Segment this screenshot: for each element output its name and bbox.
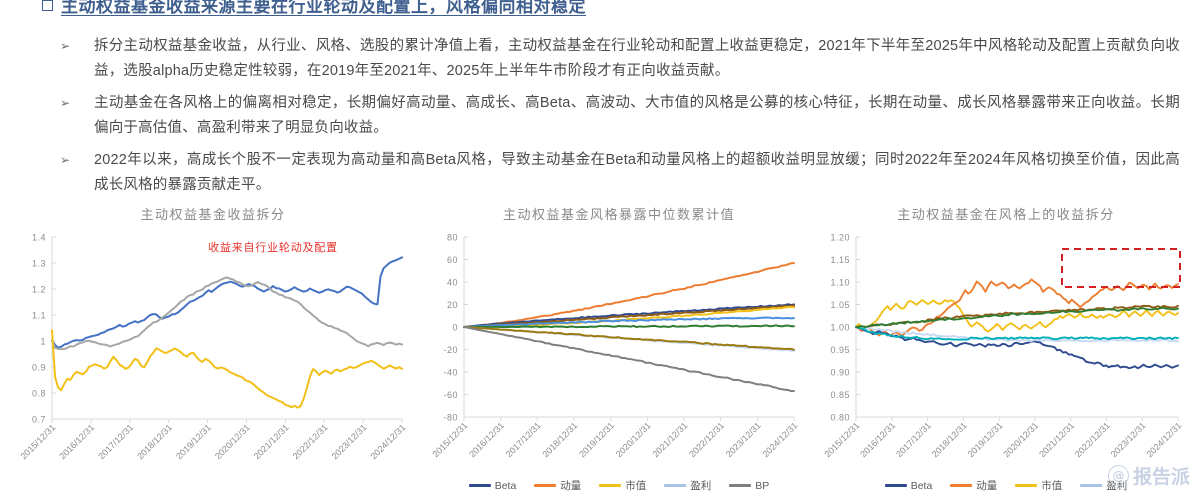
svg-text:1.4: 1.4 bbox=[32, 233, 46, 243]
svg-text:2020/12/31: 2020/12/31 bbox=[614, 420, 653, 459]
svg-text:2022/12/31: 2022/12/31 bbox=[1073, 420, 1112, 459]
svg-text:-20: -20 bbox=[443, 345, 458, 355]
svg-text:2023/12/31: 2023/12/31 bbox=[724, 420, 763, 459]
svg-text:0: 0 bbox=[452, 323, 458, 333]
legend-label: Beta bbox=[495, 480, 517, 492]
svg-text:0.8: 0.8 bbox=[32, 389, 46, 399]
legend-label: Beta bbox=[911, 480, 933, 492]
svg-text:0.90: 0.90 bbox=[830, 368, 850, 378]
legend-swatch-icon bbox=[885, 484, 907, 487]
chart-panel-style-exposure: 主动权益基金风格暴露中位数累计值 806040200-20-40-60-8020… bbox=[424, 203, 814, 495]
svg-text:2019/12/31: 2019/12/31 bbox=[966, 420, 1005, 459]
svg-text:1.00: 1.00 bbox=[830, 323, 850, 333]
line-chart-3: 1.201.151.101.051.000.950.900.850.802015… bbox=[816, 229, 1196, 469]
chart-panel-style-return-breakdown: 主动权益基金在风格上的收益拆分 1.201.151.101.051.000.95… bbox=[816, 203, 1196, 495]
page-title: 主动权益基金收益来源主要在行业轮动及配置上，风格偏向相对稳定 bbox=[61, 0, 586, 17]
svg-text:80: 80 bbox=[447, 233, 458, 243]
checkbox-marker-icon bbox=[42, 0, 53, 11]
svg-text:2015/12/31: 2015/12/31 bbox=[430, 420, 469, 459]
bullet-text: 2022年以来，高成长个股不一定表现为高动量和高Beta风格，导致主动基金在Be… bbox=[94, 148, 1180, 198]
svg-text:1.10: 1.10 bbox=[830, 278, 850, 288]
chart-title: 主动权益基金风格暴露中位数累计值 bbox=[424, 203, 814, 229]
svg-text:-60: -60 bbox=[443, 390, 458, 400]
line-chart-1: 1.41.31.21.110.90.80.72015/12/312016/12/… bbox=[8, 229, 418, 495]
svg-text:0.80: 0.80 bbox=[830, 413, 850, 423]
legend-swatch-icon bbox=[1015, 484, 1037, 487]
legend-swatch-icon bbox=[469, 484, 491, 487]
chart-row: 主动权益基金收益拆分 1.41.31.21.110.90.80.72015/12… bbox=[0, 203, 1200, 495]
legend-swatch-icon bbox=[599, 484, 621, 487]
legend-item[interactable]: 动量 bbox=[950, 478, 997, 493]
legend-label: 盈利 bbox=[690, 478, 711, 493]
legend-item[interactable]: BP bbox=[729, 480, 769, 492]
chart-title: 主动权益基金在风格上的收益拆分 bbox=[816, 203, 1196, 229]
svg-text:2021/12/31: 2021/12/31 bbox=[1037, 420, 1076, 459]
svg-text:0.95: 0.95 bbox=[830, 345, 850, 355]
svg-text:2016/12/31: 2016/12/31 bbox=[858, 420, 897, 459]
svg-text:20: 20 bbox=[447, 300, 458, 310]
legend-label: 市值 bbox=[625, 478, 646, 493]
svg-text:2022/12/31: 2022/12/31 bbox=[687, 420, 726, 459]
bullet-text: 拆分主动权益基金收益，从行业、风格、选股的累计净值上看，主动权益基金在行业轮动和… bbox=[94, 34, 1180, 84]
svg-text:2022/12/31: 2022/12/31 bbox=[291, 422, 330, 461]
legend-item[interactable]: 市值 bbox=[1015, 478, 1062, 493]
slide-title: 主动权益基金收益来源主要在行业轮动及配置上，风格偏向相对稳定 bbox=[42, 0, 1172, 18]
svg-text:2016/12/31: 2016/12/31 bbox=[467, 420, 506, 459]
svg-text:0.9: 0.9 bbox=[32, 363, 46, 373]
svg-text:40: 40 bbox=[447, 278, 458, 288]
svg-text:1.3: 1.3 bbox=[32, 259, 46, 269]
svg-text:2017/12/31: 2017/12/31 bbox=[504, 420, 543, 459]
legend-item[interactable]: 盈利 bbox=[664, 478, 711, 493]
legend-label: 动量 bbox=[560, 478, 581, 493]
svg-text:1: 1 bbox=[40, 337, 46, 347]
legend-swatch-icon bbox=[729, 484, 751, 487]
bullet-arrow-icon: ➢ bbox=[60, 34, 94, 59]
list-item: ➢ 2022年以来，高成长个股不一定表现为高动量和高Beta风格，导致主动基金在… bbox=[60, 148, 1180, 198]
svg-text:2015/12/31: 2015/12/31 bbox=[18, 422, 57, 461]
svg-text:2024/12/31: 2024/12/31 bbox=[1144, 420, 1183, 459]
bullet-arrow-icon: ➢ bbox=[60, 91, 94, 116]
legend-swatch-icon bbox=[664, 484, 686, 487]
highlight-box bbox=[1062, 249, 1180, 287]
svg-text:2019/12/31: 2019/12/31 bbox=[174, 422, 213, 461]
legend-swatch-icon bbox=[950, 484, 972, 487]
bullet-text: 主动基金在各风格上的偏离相对稳定，长期偏好高动量、高成长、高Beta、高波动、大… bbox=[94, 91, 1180, 141]
svg-text:0.85: 0.85 bbox=[830, 390, 850, 400]
list-item: ➢ 拆分主动权益基金收益，从行业、风格、选股的累计净值上看，主动权益基金在行业轮… bbox=[60, 34, 1180, 84]
chart-legend-3: Beta动量市值盈利 bbox=[816, 478, 1196, 493]
svg-text:2024/12/31: 2024/12/31 bbox=[760, 420, 799, 459]
legend-swatch-icon bbox=[534, 484, 556, 487]
svg-text:0.7: 0.7 bbox=[32, 415, 46, 425]
list-item: ➢ 主动基金在各风格上的偏离相对稳定，长期偏好高动量、高成长、高Beta、高波动… bbox=[60, 91, 1180, 141]
chart-panel-revenue-breakdown: 主动权益基金收益拆分 1.41.31.21.110.90.80.72015/12… bbox=[8, 203, 418, 495]
svg-text:2020/12/31: 2020/12/31 bbox=[1001, 420, 1040, 459]
svg-text:1.1: 1.1 bbox=[32, 311, 46, 321]
svg-text:2021/12/31: 2021/12/31 bbox=[252, 422, 291, 461]
svg-text:-40: -40 bbox=[443, 368, 458, 378]
svg-text:2021/12/31: 2021/12/31 bbox=[650, 420, 689, 459]
svg-text:2019/12/31: 2019/12/31 bbox=[577, 420, 616, 459]
chart-title: 主动权益基金收益拆分 bbox=[8, 203, 418, 229]
legend-label: 动量 bbox=[976, 478, 997, 493]
svg-text:-80: -80 bbox=[443, 413, 458, 423]
bullet-list: ➢ 拆分主动权益基金收益，从行业、风格、选股的累计净值上看，主动权益基金在行业轮… bbox=[60, 34, 1180, 205]
svg-text:1.05: 1.05 bbox=[830, 300, 850, 310]
svg-text:1.20: 1.20 bbox=[830, 233, 850, 243]
svg-text:2017/12/31: 2017/12/31 bbox=[96, 422, 135, 461]
svg-text:2017/12/31: 2017/12/31 bbox=[894, 420, 933, 459]
legend-item[interactable]: 盈利 bbox=[1080, 478, 1127, 493]
legend-label: BP bbox=[755, 480, 769, 492]
chart-legend-2: Beta动量市值盈利BP bbox=[424, 478, 814, 493]
legend-item[interactable]: Beta bbox=[469, 480, 517, 492]
svg-text:2023/12/31: 2023/12/31 bbox=[1109, 420, 1148, 459]
legend-item[interactable]: 动量 bbox=[534, 478, 581, 493]
svg-text:2020/12/31: 2020/12/31 bbox=[213, 422, 252, 461]
legend-item[interactable]: 市值 bbox=[599, 478, 646, 493]
bullet-arrow-icon: ➢ bbox=[60, 148, 94, 173]
chart-annotation: 收益来自行业轮动及配置 bbox=[208, 240, 338, 254]
svg-text:1.2: 1.2 bbox=[32, 285, 46, 295]
svg-text:2024/12/31: 2024/12/31 bbox=[368, 422, 407, 461]
svg-text:2016/12/31: 2016/12/31 bbox=[57, 422, 96, 461]
legend-item[interactable]: Beta bbox=[885, 480, 933, 492]
line-chart-2: 806040200-20-40-60-802015/12/312016/12/3… bbox=[424, 229, 814, 469]
svg-text:2015/12/31: 2015/12/31 bbox=[822, 420, 861, 459]
legend-label: 市值 bbox=[1041, 478, 1062, 493]
svg-text:2018/12/31: 2018/12/31 bbox=[930, 420, 969, 459]
legend-swatch-icon bbox=[1080, 484, 1102, 487]
legend-label: 盈利 bbox=[1106, 478, 1127, 493]
svg-text:2018/12/31: 2018/12/31 bbox=[135, 422, 174, 461]
svg-text:1.15: 1.15 bbox=[830, 255, 850, 265]
svg-text:2023/12/31: 2023/12/31 bbox=[330, 422, 369, 461]
svg-text:2018/12/31: 2018/12/31 bbox=[540, 420, 579, 459]
svg-text:60: 60 bbox=[447, 255, 458, 265]
